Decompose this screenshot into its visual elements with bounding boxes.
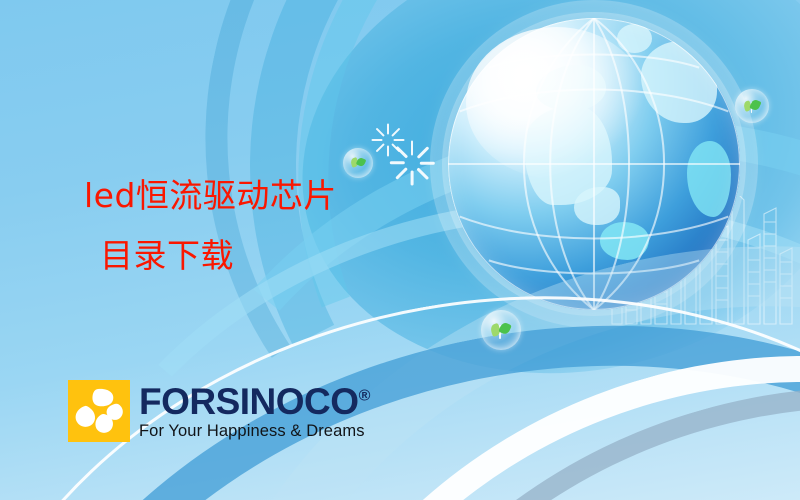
globe-icon bbox=[448, 18, 740, 310]
logo-text-block: FORSINOCO® For Your Happiness & Dreams bbox=[139, 383, 370, 440]
globe-sphere bbox=[448, 18, 740, 310]
headline-line-2: 目录下载 bbox=[84, 226, 337, 286]
logo-company-name: FORSINOCO® bbox=[139, 383, 370, 420]
headline-line-1: led恒流驱动芯片 bbox=[84, 176, 337, 215]
company-logo: FORSINOCO® For Your Happiness & Dreams bbox=[68, 380, 370, 442]
logo-name-word: FORSINOCO bbox=[139, 381, 359, 422]
globe-graticule bbox=[448, 18, 740, 310]
flower-icon-2 bbox=[397, 148, 427, 178]
bubble-icon-3 bbox=[735, 89, 769, 123]
flower-mark-svg bbox=[68, 380, 130, 442]
headline-text: led恒流驱动芯片 目录下载 bbox=[84, 166, 337, 286]
bubble-icon-2 bbox=[481, 310, 521, 350]
flower-icon-1 bbox=[377, 129, 399, 151]
logo-tagline: For Your Happiness & Dreams bbox=[139, 423, 370, 440]
banner-image: led恒流驱动芯片 目录下载 FORSINOCO® For Your Happi… bbox=[0, 0, 800, 500]
registered-trademark-icon: ® bbox=[359, 387, 370, 404]
green-globe-leaf-b bbox=[356, 156, 367, 167]
bubble-icon-1 bbox=[343, 148, 373, 178]
four-petal-flower-icon bbox=[68, 380, 130, 442]
